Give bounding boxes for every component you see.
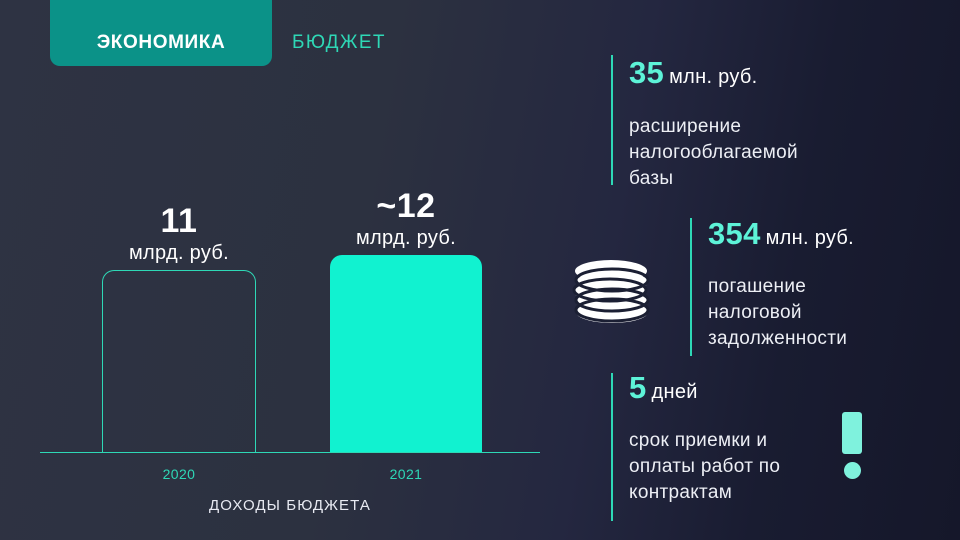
bar-category-2020: 2020 bbox=[102, 466, 256, 482]
fact-unit-1: млн. руб. bbox=[669, 66, 757, 88]
tab-economy[interactable]: ЭКОНОМИКА bbox=[50, 0, 272, 66]
bar-unit-2021: млрд. руб. bbox=[330, 225, 482, 251]
tab-economy-label: ЭКОНОМИКА bbox=[97, 32, 226, 54]
fact-unit-2: млн. руб. bbox=[766, 227, 854, 249]
coins-stack-icon bbox=[566, 258, 658, 334]
fact-headline-1: 35млн. руб. bbox=[629, 55, 758, 91]
bar-shape-2020[interactable] bbox=[102, 270, 256, 452]
chart-axis-line bbox=[40, 452, 540, 454]
fact-value-3: 5 bbox=[629, 370, 647, 405]
fact-accent-rule-3 bbox=[611, 373, 613, 521]
fact-item-2: 354млн. руб. погашение налоговой задолже… bbox=[680, 212, 950, 362]
fact-accent-rule-2 bbox=[690, 218, 692, 356]
fact-description-3: срок приемки и оплаты работ по контракта… bbox=[629, 428, 859, 506]
fact-value-2: 354 bbox=[708, 216, 761, 251]
fact-item-3: 5дней срок приемки и оплаты работ по кон… bbox=[600, 368, 940, 528]
tab-budget[interactable]: БЮДЖЕТ bbox=[292, 32, 386, 54]
fact-description-2: погашение налоговой задолженности bbox=[708, 274, 948, 352]
fact-item-1: 35млн. руб. расширение налогооблагаемой … bbox=[600, 50, 940, 200]
fact-accent-rule-1 bbox=[611, 55, 613, 185]
fact-headline-3: 5дней bbox=[629, 370, 698, 406]
fact-description-1: расширение налогооблагаемой базы bbox=[629, 114, 929, 192]
bar-label-2020: 11 млрд. руб. bbox=[102, 202, 256, 266]
bar-value-2020: 11 bbox=[102, 202, 256, 240]
fact-value-1: 35 bbox=[629, 55, 664, 90]
chart-caption: ДОХОДЫ БЮДЖЕТА bbox=[0, 497, 580, 514]
bar-unit-2020: млрд. руб. bbox=[102, 240, 256, 266]
bar-shape-2021[interactable] bbox=[330, 255, 482, 452]
fact-headline-2: 354млн. руб. bbox=[708, 216, 854, 252]
bar-group-2020: 11 млрд. руб. 2020 bbox=[102, 270, 256, 452]
bar-category-2021: 2021 bbox=[330, 466, 482, 482]
slide-canvas: ЭКОНОМИКА БЮДЖЕТ 11 млрд. руб. 2020 ~12 … bbox=[0, 0, 960, 540]
fact-unit-3: дней bbox=[652, 381, 698, 403]
budget-revenue-bar-chart: 11 млрд. руб. 2020 ~12 млрд. руб. 2021 Д… bbox=[0, 150, 560, 540]
bar-group-2021: ~12 млрд. руб. 2021 bbox=[330, 255, 482, 452]
bar-label-2021: ~12 млрд. руб. bbox=[330, 187, 482, 251]
bar-value-2021: ~12 bbox=[330, 187, 482, 225]
